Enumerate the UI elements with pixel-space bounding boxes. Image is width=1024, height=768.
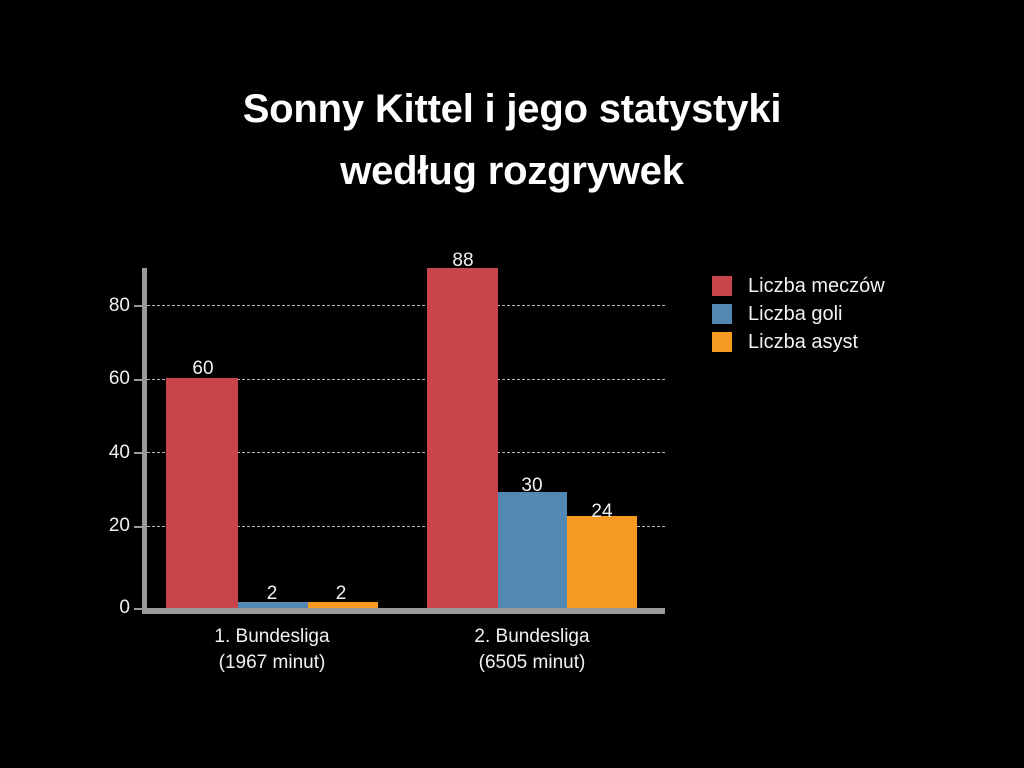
legend-swatch-icon-goals xyxy=(712,304,732,324)
bar-bundesliga2-matches[interactable] xyxy=(427,268,498,610)
bar-value-label: 2 xyxy=(267,583,278,605)
legend-swatch-icon-matches xyxy=(712,276,732,296)
y-tick-label-80: 80 xyxy=(109,295,130,317)
bar-value-label: 30 xyxy=(521,475,542,497)
chart-canvas: Sonny Kittel i jego statystyki według ro… xyxy=(0,0,1024,768)
y-tick-label-60: 60 xyxy=(109,368,130,390)
y-tick-label-20: 20 xyxy=(109,515,130,537)
chart-title: Sonny Kittel i jego statystyki według ro… xyxy=(0,78,1024,202)
legend-swatch-icon-assists xyxy=(712,332,732,352)
legend-item-matches[interactable]: Liczba meczów xyxy=(712,272,885,300)
y-axis-tick-labels: 80 60 40 20 0 xyxy=(82,268,130,610)
plot-area xyxy=(142,268,665,610)
x-axis-category-label-1: 1. Bundesliga (1967 minut) xyxy=(214,624,329,675)
legend-item-goals[interactable]: Liczba goli xyxy=(712,300,885,328)
x-axis-line xyxy=(142,608,665,614)
legend-label-matches: Liczba meczów xyxy=(748,275,885,298)
bar-value-label: 88 xyxy=(452,250,473,272)
y-axis-line xyxy=(142,268,147,611)
gridline-80 xyxy=(142,305,665,306)
y-tick-label-0: 0 xyxy=(119,597,130,619)
bar-value-label: 24 xyxy=(591,501,612,523)
legend-label-goals: Liczba goli xyxy=(748,303,843,326)
x-axis-category-label-2: 2. Bundesliga (6505 minut) xyxy=(474,624,589,675)
bar-value-label: 60 xyxy=(192,358,213,380)
legend-label-assists: Liczba asyst xyxy=(748,331,858,354)
chart-legend: Liczba meczów Liczba goli Liczba asyst xyxy=(712,272,885,356)
bar-bundesliga2-goals[interactable] xyxy=(498,492,567,610)
bar-value-label: 2 xyxy=(336,583,347,605)
y-tick-label-40: 40 xyxy=(109,442,130,464)
bar-bundesliga1-matches[interactable] xyxy=(166,378,238,610)
legend-item-assists[interactable]: Liczba asyst xyxy=(712,328,885,356)
bar-bundesliga2-assists[interactable] xyxy=(567,516,637,610)
